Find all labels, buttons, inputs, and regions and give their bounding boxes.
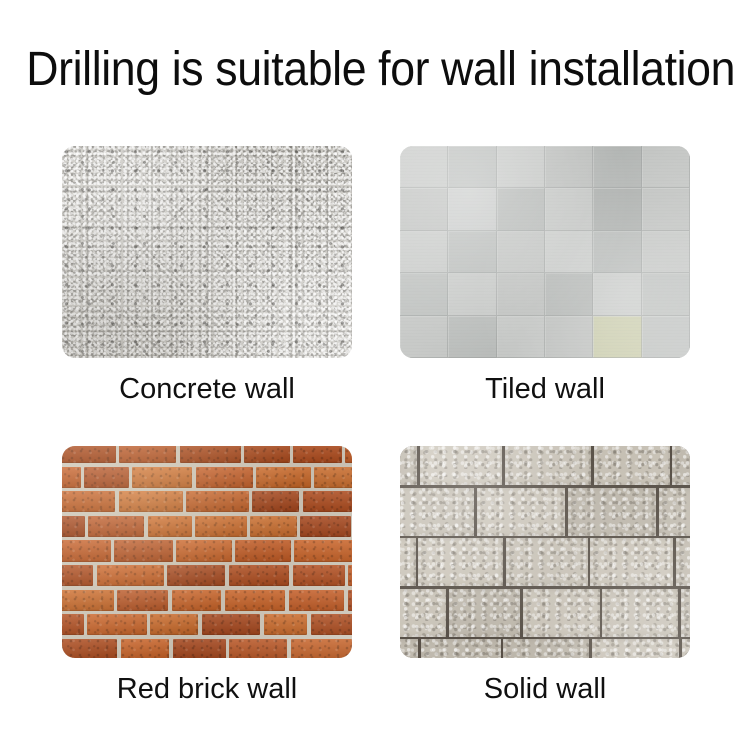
brick xyxy=(195,516,246,537)
brick xyxy=(62,639,117,658)
tile xyxy=(642,188,690,230)
brick xyxy=(62,446,116,463)
brick xyxy=(264,614,308,635)
brick xyxy=(229,565,290,586)
wall-block xyxy=(659,488,690,536)
brick xyxy=(345,446,352,463)
wall-type-grid: Concrete wall xyxy=(0,0,750,750)
tile xyxy=(448,188,496,230)
tile xyxy=(497,146,545,188)
tile xyxy=(400,316,448,358)
brick xyxy=(348,590,352,611)
brick-course xyxy=(62,446,352,463)
tile xyxy=(400,273,448,315)
brick xyxy=(229,639,287,658)
brick xyxy=(167,565,225,586)
tile xyxy=(593,316,641,358)
wall-block xyxy=(506,538,587,586)
tile xyxy=(448,273,496,315)
block-course xyxy=(400,639,690,658)
red-brick-wall-image xyxy=(62,446,352,658)
wall-block xyxy=(400,488,474,536)
wall-block xyxy=(523,589,600,637)
tile xyxy=(497,188,545,230)
tile xyxy=(642,146,690,188)
solid-block-pattern xyxy=(400,446,690,658)
brick xyxy=(97,565,164,586)
brick xyxy=(62,590,114,611)
concrete-wall-caption: Concrete wall xyxy=(62,372,352,406)
brick-course xyxy=(62,467,352,488)
brick xyxy=(294,540,352,561)
brick-course xyxy=(62,639,352,658)
wall-block xyxy=(420,446,503,485)
brick-course xyxy=(62,540,352,561)
brick-course xyxy=(62,590,352,611)
tile xyxy=(400,146,448,188)
tiled-wall-image xyxy=(400,146,690,358)
brick xyxy=(62,467,81,488)
brick xyxy=(176,540,232,561)
tile xyxy=(497,316,545,358)
brick xyxy=(289,590,345,611)
brick xyxy=(250,516,297,537)
concrete-wall-image xyxy=(62,146,352,358)
tile xyxy=(545,316,593,358)
wall-block xyxy=(400,538,416,586)
tile xyxy=(593,188,641,230)
brick xyxy=(348,565,352,586)
tile xyxy=(642,316,690,358)
brick xyxy=(119,491,183,512)
wall-block xyxy=(449,589,521,637)
tile xyxy=(593,146,641,188)
brick xyxy=(180,446,241,463)
wall-block xyxy=(418,538,503,586)
wall-block xyxy=(592,639,679,658)
wall-card-red-brick: Red brick wall xyxy=(62,446,352,706)
brick xyxy=(88,516,144,537)
tile xyxy=(545,231,593,273)
brick xyxy=(235,540,291,561)
wall-block xyxy=(672,446,690,485)
brick xyxy=(62,540,111,561)
wall-block xyxy=(421,639,501,658)
tile xyxy=(642,273,690,315)
solid-wall-caption: Solid wall xyxy=(400,672,690,706)
tile xyxy=(593,231,641,273)
wall-block xyxy=(682,639,690,658)
wall-card-tiled: Tiled wall xyxy=(400,146,690,406)
wall-block xyxy=(676,538,690,586)
brick xyxy=(202,614,261,635)
solid-wall-image xyxy=(400,446,690,658)
brick-course xyxy=(62,491,352,512)
brick xyxy=(186,491,249,512)
tile xyxy=(545,188,593,230)
tile xyxy=(400,231,448,273)
wall-block xyxy=(590,538,673,586)
brick xyxy=(121,639,170,658)
brick xyxy=(148,516,192,537)
tile xyxy=(448,231,496,273)
brick-course xyxy=(62,565,352,586)
brick xyxy=(84,467,129,488)
brick xyxy=(291,639,352,658)
block-course xyxy=(400,538,690,586)
wall-block xyxy=(400,589,446,637)
wall-block xyxy=(400,639,418,658)
brick xyxy=(62,614,84,635)
brick xyxy=(62,491,115,512)
brick xyxy=(293,446,342,463)
wall-block xyxy=(477,488,565,536)
tile xyxy=(497,273,545,315)
brick xyxy=(314,467,352,488)
brick xyxy=(196,467,253,488)
brick xyxy=(225,590,286,611)
brick xyxy=(252,491,299,512)
wall-block xyxy=(505,446,591,485)
brick xyxy=(293,565,345,586)
tile xyxy=(642,231,690,273)
red-brick-wall-caption: Red brick wall xyxy=(62,672,352,706)
tile xyxy=(400,188,448,230)
brick xyxy=(256,467,311,488)
tile xyxy=(545,146,593,188)
wall-card-solid: Solid wall xyxy=(400,446,690,706)
brick xyxy=(172,590,221,611)
brick-course xyxy=(62,516,352,537)
wall-card-concrete: Concrete wall xyxy=(62,146,352,406)
brick xyxy=(173,639,226,658)
block-course xyxy=(400,446,690,485)
brick xyxy=(150,614,198,635)
tile xyxy=(593,273,641,315)
brick xyxy=(119,446,176,463)
brick-pattern xyxy=(62,446,352,658)
brick xyxy=(132,467,192,488)
block-course xyxy=(400,589,690,637)
brick xyxy=(303,491,352,512)
wall-types-infographic: Drilling is suitable for wall installati… xyxy=(0,0,750,750)
brick xyxy=(87,614,146,635)
wall-block xyxy=(681,589,690,637)
brick xyxy=(114,540,172,561)
wall-block xyxy=(602,589,678,637)
tile xyxy=(497,231,545,273)
block-course xyxy=(400,488,690,536)
brick xyxy=(62,516,85,537)
brick xyxy=(117,590,168,611)
tile xyxy=(448,316,496,358)
tile xyxy=(545,273,593,315)
wall-block xyxy=(503,639,589,658)
wall-block xyxy=(594,446,670,485)
tile-pattern xyxy=(400,146,690,358)
brick-course xyxy=(62,614,352,635)
wall-block xyxy=(400,446,417,485)
brick xyxy=(244,446,290,463)
brick xyxy=(311,614,352,635)
wall-block xyxy=(568,488,656,536)
brick xyxy=(62,565,93,586)
brick xyxy=(300,516,351,537)
tiled-wall-caption: Tiled wall xyxy=(400,372,690,406)
tile xyxy=(448,146,496,188)
